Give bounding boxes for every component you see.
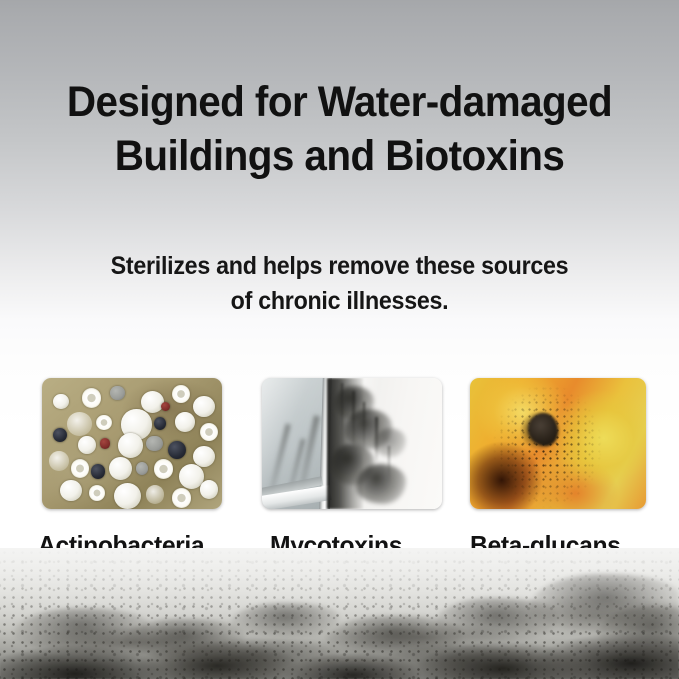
card-beta-glucans xyxy=(470,378,646,509)
spore-speckle-overlay xyxy=(470,378,646,509)
source-card-row xyxy=(42,378,646,509)
mold-wall-image xyxy=(262,378,442,509)
card-actinobacteria xyxy=(42,378,222,509)
petri-dish-image xyxy=(42,378,222,509)
poster-infographic: Designed for Water-damaged Buildings and… xyxy=(0,0,679,679)
subtitle-line-2: of chronic illnesses. xyxy=(24,284,655,319)
headline: Designed for Water-damaged Buildings and… xyxy=(20,75,658,183)
subtitle: Sterilizes and helps remove these source… xyxy=(24,249,655,319)
mold-speckle-overlay xyxy=(0,548,679,679)
beta-glucan-image xyxy=(470,378,646,509)
footer-mold-texture xyxy=(0,548,679,679)
subtitle-line-1: Sterilizes and helps remove these source… xyxy=(24,249,655,284)
dark-spore-cluster xyxy=(528,413,558,446)
headline-line-2: Buildings and Biotoxins xyxy=(20,129,658,183)
card-mycotoxins xyxy=(262,378,442,509)
headline-line-1: Designed for Water-damaged xyxy=(20,75,658,129)
